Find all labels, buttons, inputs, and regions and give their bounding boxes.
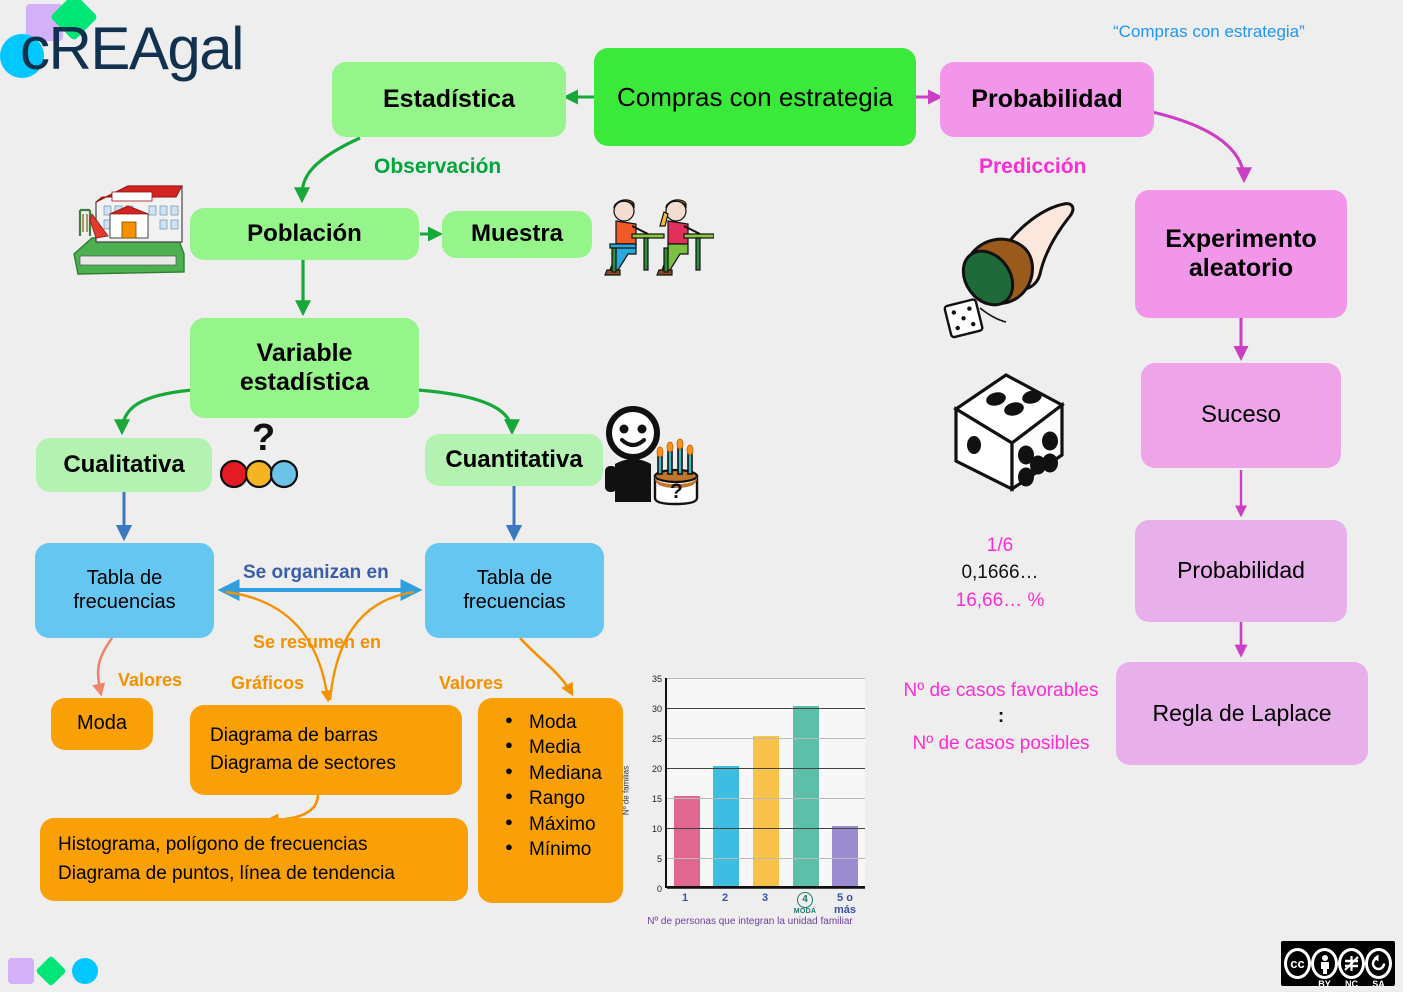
chart-x-tick: 5 o más [828, 892, 862, 916]
node-estadistica-label: Estadística [383, 85, 515, 115]
laplace-divider: : [886, 706, 1116, 728]
chart-gridline: 25 [667, 738, 865, 739]
chart-x-tick: 4MODA [788, 892, 822, 916]
chart-x-tick: 1 [668, 892, 702, 916]
node-tabla-frecuencias-cualitativa[interactable]: Tabla de frecuencias [35, 543, 214, 638]
chart-bar[interactable] [832, 826, 858, 886]
valores-item: Media [503, 737, 602, 759]
cc-by-icon: BY [1311, 948, 1338, 979]
node-estadistica[interactable]: Estadística [332, 62, 566, 137]
edge-label-graficos: Gráficos [231, 673, 304, 694]
laplace-numerator: Nº de casos favorables [886, 680, 1116, 702]
node-poblacion[interactable]: Población [190, 208, 419, 260]
chart-y-tick: 10 [652, 824, 662, 834]
tabla-cual-label: Tabla de frecuencias [73, 567, 175, 614]
person-birthday-cake-icon: ? [603, 406, 708, 506]
node-tabla-frecuencias-cuantitativa[interactable]: Tabla de frecuencias [425, 543, 604, 638]
chart-gridline: 20 [667, 768, 865, 769]
svg-text:?: ? [670, 480, 683, 503]
chart-yaxis-title: Nº de familias [622, 766, 631, 815]
node-variable-estadistica[interactable]: Variable estadística [190, 318, 419, 418]
node-histograma-box[interactable]: Histograma, polígono de frecuencias Diag… [40, 818, 468, 901]
probability-decimal: 0,1666… [925, 562, 1075, 584]
dice-cup-hand-icon [940, 190, 1082, 340]
node-moda[interactable]: Moda [51, 698, 153, 750]
large-die-icon [948, 365, 1073, 495]
edge-label-prediccion: Predicción [979, 155, 1086, 179]
valores-item: Máximo [503, 814, 602, 836]
chart-xaxis-title: Nº de personas que integran la unidad fa… [620, 916, 880, 927]
brand-name: cREAgal [20, 14, 243, 83]
valores-list: Moda Media Mediana Rango Máximo Mínimo [499, 709, 602, 864]
chart-y-tick: 30 [652, 704, 662, 714]
edge-label-se-organizan: Se organizan en [243, 562, 389, 584]
chart-gridline: 30 [667, 708, 865, 709]
node-moda-label: Moda [77, 712, 127, 736]
probability-percent: 16,66… % [925, 590, 1075, 612]
header-quote: “Compras con estrategia” [1113, 22, 1305, 42]
chart-plot-area: 05101520253035 [665, 678, 865, 888]
graficos-box-label: Diagrama de barras Diagrama de sectores [210, 722, 396, 777]
node-variable-label: Variable estadística [240, 339, 369, 398]
node-muestra-label: Muestra [471, 220, 563, 248]
chart-y-tick: 15 [652, 794, 662, 804]
colored-balls-question-icon: ? [220, 418, 298, 490]
chart-y-tick: 0 [657, 884, 662, 894]
edge-label-observacion: Observación [374, 155, 501, 179]
valores-item: Mínimo [503, 839, 602, 861]
chart-bar[interactable] [674, 796, 700, 886]
node-valores-list-box[interactable]: Moda Media Mediana Rango Máximo Mínimo [478, 698, 623, 903]
node-cualitativa[interactable]: Cualitativa [36, 438, 212, 492]
node-probabilidad[interactable]: Probabilidad [940, 62, 1154, 137]
node-graficos-box[interactable]: Diagrama de barras Diagrama de sectores [190, 705, 462, 795]
chart-x-tick: 3 [748, 892, 782, 916]
chart-y-tick: 5 [657, 854, 662, 864]
laplace-denominator: Nº de casos posibles [886, 733, 1116, 755]
chart-gridline: 10 [667, 828, 865, 829]
chart-bars [667, 678, 865, 886]
chart-gridline: 15 [667, 798, 865, 799]
node-root-label: Compras con estrategia [617, 82, 893, 113]
cc-nc-label: NC [1341, 979, 1362, 989]
footer-square-icon [8, 958, 34, 984]
creative-commons-license-badge[interactable]: cc BY NC SA [1281, 941, 1395, 986]
chart-y-tick: 20 [652, 764, 662, 774]
edge-label-se-resumen: Se resumen en [253, 632, 381, 653]
node-cuantitativa-label: Cuantitativa [445, 446, 582, 474]
valores-item: Moda [503, 712, 602, 734]
probability-fraction: 1/6 [940, 535, 1060, 557]
cc-sa-label: SA [1368, 979, 1389, 989]
chart-bar[interactable] [713, 766, 739, 886]
node-regla-laplace[interactable]: Regla de Laplace [1116, 662, 1368, 765]
probabilidad2-label: Probabilidad [1177, 557, 1305, 584]
infographic-canvas: cREAgal “Compras con estrategia” Compras… [0, 0, 1403, 992]
chart-y-tick: 25 [652, 734, 662, 744]
histograma-box-label: Histograma, polígono de frecuencias Diag… [58, 831, 395, 888]
node-poblacion-label: Población [247, 220, 362, 248]
chart-x-tick: 2 [708, 892, 742, 916]
node-probabilidad-label: Probabilidad [971, 85, 1122, 115]
node-cualitativa-label: Cualitativa [63, 451, 184, 479]
tabla-cuant-label: Tabla de frecuencias [463, 567, 565, 614]
chart-gridline: 5 [667, 858, 865, 859]
node-cuantitativa[interactable]: Cuantitativa [425, 434, 603, 486]
laplace-label: Regla de Laplace [1152, 700, 1331, 727]
node-experimento-aleatorio[interactable]: Experimento aleatorio [1135, 190, 1347, 318]
valores-item: Mediana [503, 763, 602, 785]
cc-label: cc [1290, 956, 1304, 971]
cc-by-label: BY [1314, 979, 1335, 989]
experimento-label: Experimento aleatorio [1165, 225, 1316, 284]
cc-sa-icon: SA [1365, 948, 1392, 979]
node-root[interactable]: Compras con estrategia [594, 48, 916, 146]
chart-bar[interactable] [753, 736, 779, 886]
chart-gridline: 0 [667, 888, 865, 889]
node-suceso[interactable]: Suceso [1141, 363, 1341, 468]
node-muestra[interactable]: Muestra [442, 211, 592, 258]
school-building-icon [66, 180, 192, 286]
chart-gridline: 35 [667, 678, 865, 679]
chart-x-tick-labels: 1234MODA5 o más [665, 892, 865, 916]
footer-diamond-icon [35, 955, 66, 986]
svg-text:?: ? [252, 418, 275, 459]
node-probabilidad-2[interactable]: Probabilidad [1135, 520, 1347, 622]
footer-circle-icon [72, 958, 98, 984]
chart-y-tick: 35 [652, 674, 662, 684]
chart-bar[interactable] [793, 706, 819, 886]
cc-nc-icon: NC [1338, 948, 1365, 979]
students-at-desks-icon [602, 196, 714, 282]
suceso-label: Suceso [1201, 401, 1281, 429]
valores-item: Rango [503, 788, 602, 810]
edge-label-valores-right: Valores [439, 673, 503, 694]
cc-icon: cc [1284, 948, 1311, 979]
bar-chart[interactable]: 05101520253035 1234MODA5 o más Nº de per… [620, 668, 880, 920]
edge-label-valores-left: Valores [118, 670, 182, 691]
